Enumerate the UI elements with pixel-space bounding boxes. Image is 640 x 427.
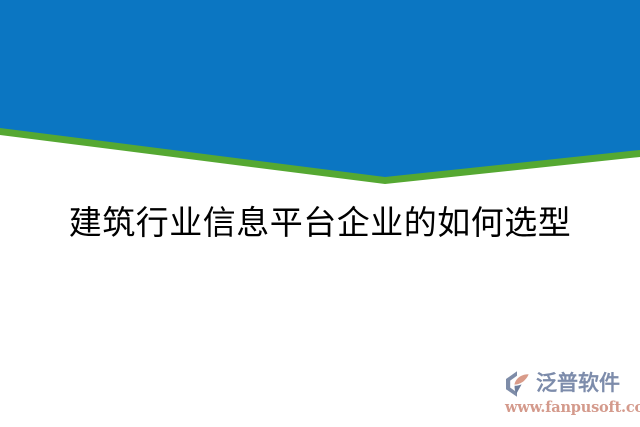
brand-url: www.fanpusoft.com	[505, 401, 640, 416]
brand-logo-row: 泛普软件	[504, 369, 620, 399]
brand-name: 泛普软件	[536, 373, 620, 394]
chevron-banner	[0, 0, 640, 200]
page-title: 建筑行业信息平台企业的如何选型	[69, 205, 572, 242]
page-title-container: 建筑行业信息平台企业的如何选型	[0, 205, 640, 242]
slide-canvas: 建筑行业信息平台企业的如何选型 泛普软件 www.fanpusoft.com	[0, 0, 640, 427]
banner-green-band	[0, 0, 640, 184]
fanpu-bracket-icon	[504, 370, 533, 398]
brand-logo: 泛普软件 www.fanpusoft.com	[504, 369, 630, 416]
banner-blue-body	[0, 0, 640, 177]
